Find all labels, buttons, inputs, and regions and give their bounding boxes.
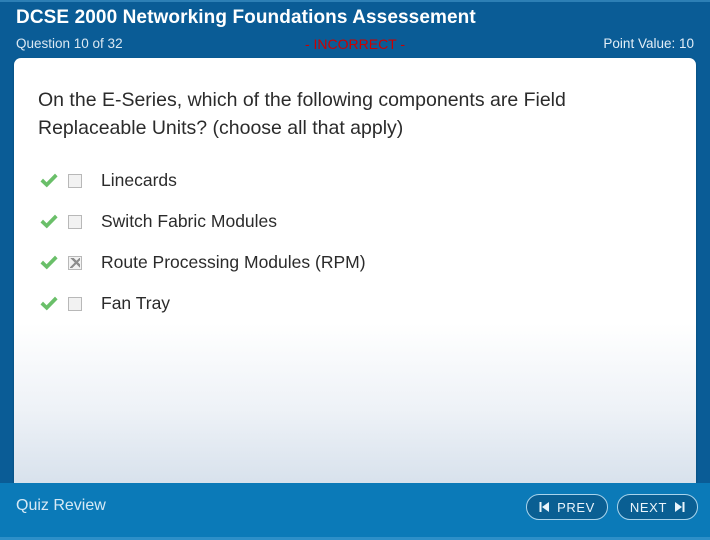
correct-check-icon <box>38 252 60 274</box>
next-arrow-icon <box>673 502 685 512</box>
choice-row[interactable]: Route Processing Modules (RPM) <box>38 242 658 283</box>
choice-label: Fan Tray <box>101 293 170 314</box>
choice-checkbox-selected[interactable] <box>68 256 82 270</box>
choice-row[interactable]: Fan Tray <box>38 283 658 324</box>
prev-arrow-icon <box>539 502 551 512</box>
next-button[interactable]: NEXT <box>617 494 698 520</box>
footer-bar: Quiz Review PREV NEXT <box>0 483 710 540</box>
correct-check-icon <box>38 211 60 233</box>
page-title: DCSE 2000 Networking Foundations Assesse… <box>16 7 476 29</box>
choice-label: Linecards <box>101 170 177 191</box>
point-value: Point Value: 10 <box>603 36 694 54</box>
choice-list: Linecards Switch Fabric Modules <box>38 160 658 324</box>
next-button-label: NEXT <box>630 500 667 515</box>
choice-checkbox[interactable] <box>68 297 82 311</box>
question-panel: On the E-Series, which of the following … <box>14 58 696 486</box>
choice-row[interactable]: Switch Fabric Modules <box>38 201 658 242</box>
prev-button[interactable]: PREV <box>526 494 608 520</box>
quiz-window: DCSE 2000 Networking Foundations Assesse… <box>0 0 710 540</box>
navigation-buttons: PREV NEXT <box>526 494 698 520</box>
choice-label: Route Processing Modules (RPM) <box>101 252 366 273</box>
prev-button-label: PREV <box>557 500 595 515</box>
choice-checkbox[interactable] <box>68 174 82 188</box>
choice-checkbox[interactable] <box>68 215 82 229</box>
question-text: On the E-Series, which of the following … <box>38 86 648 142</box>
choice-label: Switch Fabric Modules <box>101 211 277 232</box>
correct-check-icon <box>38 293 60 315</box>
header-bar: DCSE 2000 Networking Foundations Assesse… <box>0 0 710 60</box>
correct-check-icon <box>38 170 60 192</box>
quiz-review-label: Quiz Review <box>16 497 106 515</box>
choice-row[interactable]: Linecards <box>38 160 658 201</box>
